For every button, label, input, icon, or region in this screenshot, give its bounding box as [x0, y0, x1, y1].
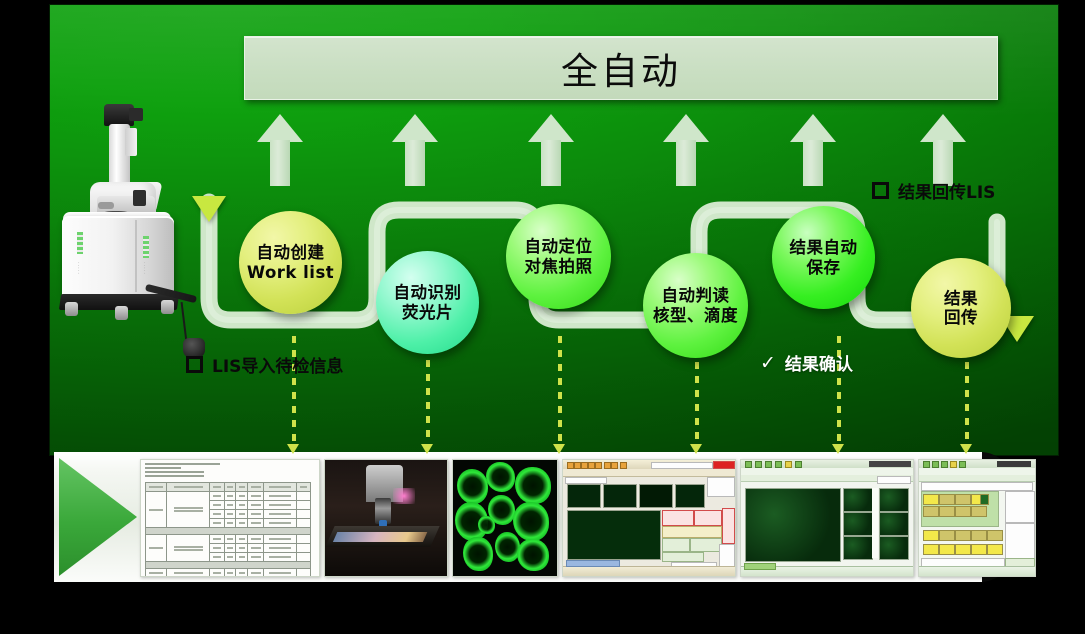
step-line2: 保存 [790, 258, 858, 277]
step-line1: 自动创建 [256, 243, 324, 262]
caption-text: 结果确认 [785, 350, 853, 375]
up-arrow-icon-2 [392, 114, 438, 186]
filmstrip [54, 452, 982, 582]
step-line2: Work list [247, 263, 334, 282]
microscope-instrument-image: ····· ····· [57, 104, 207, 370]
step-line1: 自动定位 [525, 237, 593, 256]
step-line1: 结果 [944, 289, 978, 308]
thumbnail-microscope-photo[interactable] [324, 459, 448, 577]
caption-text: 结果回传LIS [898, 178, 995, 203]
workflow-step-locate-focus[interactable]: 自动定位 对焦拍照 [506, 204, 611, 309]
step-line2: 荧光片 [394, 303, 462, 322]
up-arrow-icon-4 [663, 114, 709, 186]
workflow-step-auto-interpret[interactable]: 自动判读 核型、滴度 [643, 253, 748, 358]
caption-text: LIS导入待检信息 [212, 352, 343, 377]
filmstrip-chevron-icon [59, 458, 137, 576]
caption-lis-import: LIS导入待检信息 [186, 352, 343, 377]
page-title: 全自动 [561, 41, 681, 95]
thumbnail-fluorescence-cells[interactable] [452, 459, 558, 577]
workflow-step-create-worklist[interactable]: 自动创建 Work list [239, 211, 342, 314]
slide-title-bar: 全自动 [244, 36, 998, 100]
up-arrow-icon-3 [528, 114, 574, 186]
step-line1: 自动判读 [662, 286, 730, 305]
step-line1: 结果自动 [790, 238, 858, 257]
step-line2: 回传 [944, 308, 978, 327]
step-line1: 自动识别 [394, 283, 462, 302]
thumbnail-results-grid[interactable] [918, 459, 1036, 577]
caption-result-to-lis: 结果回传LIS [872, 178, 995, 203]
square-bullet-icon [872, 182, 889, 199]
check-icon: ✓ [760, 352, 776, 374]
up-arrow-icon-5 [790, 114, 836, 186]
caption-result-confirm: ✓ 结果确认 [760, 350, 853, 375]
square-bullet-icon [186, 356, 203, 373]
thumbnail-worklist-table[interactable] [140, 459, 320, 577]
slide-canvas: 全自动 自动创建 Work list 自动识别 荧光片 自动定位 [0, 0, 1085, 634]
up-arrow-icon-1 [257, 114, 303, 186]
thumbnail-capture-software[interactable] [562, 459, 736, 577]
thumbnail-review-software[interactable] [740, 459, 914, 577]
step-line2: 对焦拍照 [525, 257, 593, 276]
up-arrow-icon-6 [920, 114, 966, 186]
step-line2: 核型、滴度 [653, 306, 738, 325]
workflow-step-auto-save[interactable]: 结果自动 保存 [772, 206, 875, 309]
workflow-step-identify-slide[interactable]: 自动识别 荧光片 [376, 251, 479, 354]
workflow-step-send-back[interactable]: 结果 回传 [911, 258, 1011, 358]
